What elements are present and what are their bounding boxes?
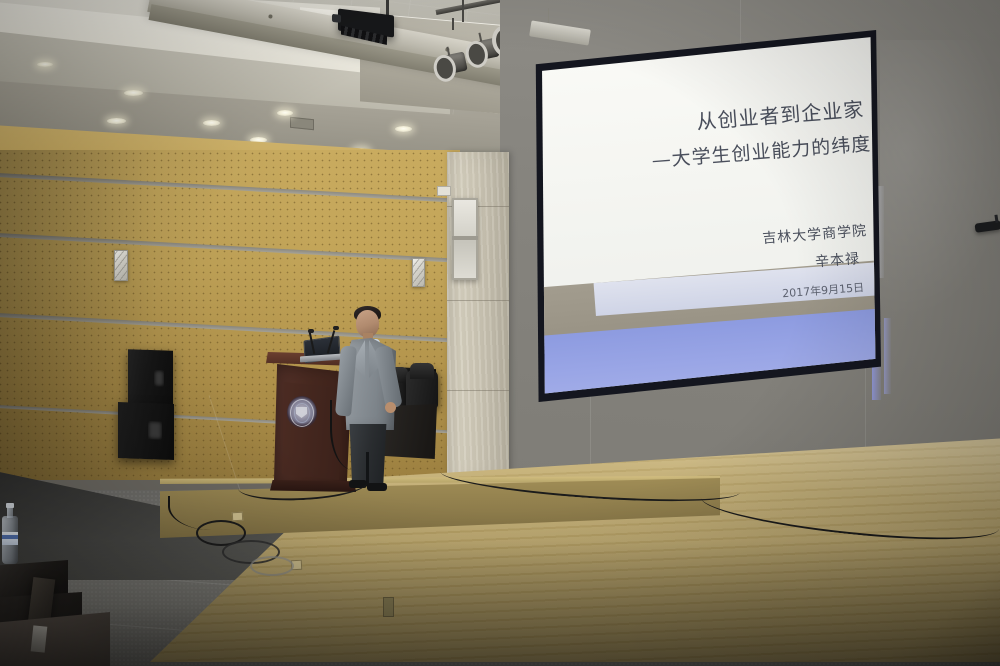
projector-light-spill <box>884 318 891 394</box>
bottle-label <box>2 532 18 545</box>
desk-paper-slip <box>31 625 48 652</box>
floor-power-socket <box>232 512 243 522</box>
slide-presenter-name: 辛本禄 <box>814 248 860 271</box>
projector-mount-rod <box>386 0 389 15</box>
slide-organization: 吉林大学商学院 <box>762 220 868 248</box>
slide-title-line-1: 从创业者到企业家 <box>695 93 865 135</box>
projector-lens-icon <box>332 14 341 23</box>
column-wall-light <box>452 198 478 280</box>
truss-hanger <box>452 18 454 30</box>
pa-speaker-cabinet <box>128 349 173 409</box>
floor-cable-coil <box>250 556 294 576</box>
ceiling-air-vent-icon <box>290 117 314 131</box>
truss-hanger <box>462 0 464 22</box>
wall-sconce-light <box>412 258 425 287</box>
recessed-downlight-icon <box>277 110 293 116</box>
recessed-downlight-icon <box>37 62 53 67</box>
recessed-downlight-icon <box>124 90 143 96</box>
screen-surface: 从创业者到企业家 —大学生创业能力的纬度 吉林大学商学院 辛本禄 2017年9月… <box>533 30 881 402</box>
presenter-hand <box>385 402 396 413</box>
wall-sensor-box <box>437 186 451 196</box>
presenter-shoe <box>367 483 387 491</box>
subwoofer-cabinet <box>118 402 174 460</box>
presentation-slide: 从创业者到企业家 —大学生创业能力的纬度 吉林大学商学院 辛本禄 2017年9月… <box>533 30 881 402</box>
bottle-cap <box>6 503 14 508</box>
plastic-water-bottle <box>2 506 18 564</box>
stage-floor-vent <box>383 597 394 617</box>
microphone-capsule-icon <box>308 329 314 333</box>
lecture-hall-scene: 从创业者到企业家 —大学生创业能力的纬度 吉林大学商学院 辛本禄 2017年9月… <box>0 0 1000 666</box>
recessed-downlight-icon <box>395 126 412 132</box>
recessed-downlight-icon <box>107 118 126 124</box>
university-seal-emblem-icon <box>287 396 317 430</box>
wall-sconce-light <box>114 250 128 281</box>
recessed-downlight-icon <box>203 120 220 126</box>
projection-screen[interactable]: 从创业者到企业家 —大学生创业能力的纬度 吉林大学商学院 辛本禄 2017年9月… <box>533 30 881 402</box>
wall-light-glow <box>880 40 1000 320</box>
stage-armchair <box>406 370 438 408</box>
slide-title-line-2: —大学生创业能力的纬度 <box>650 129 871 173</box>
